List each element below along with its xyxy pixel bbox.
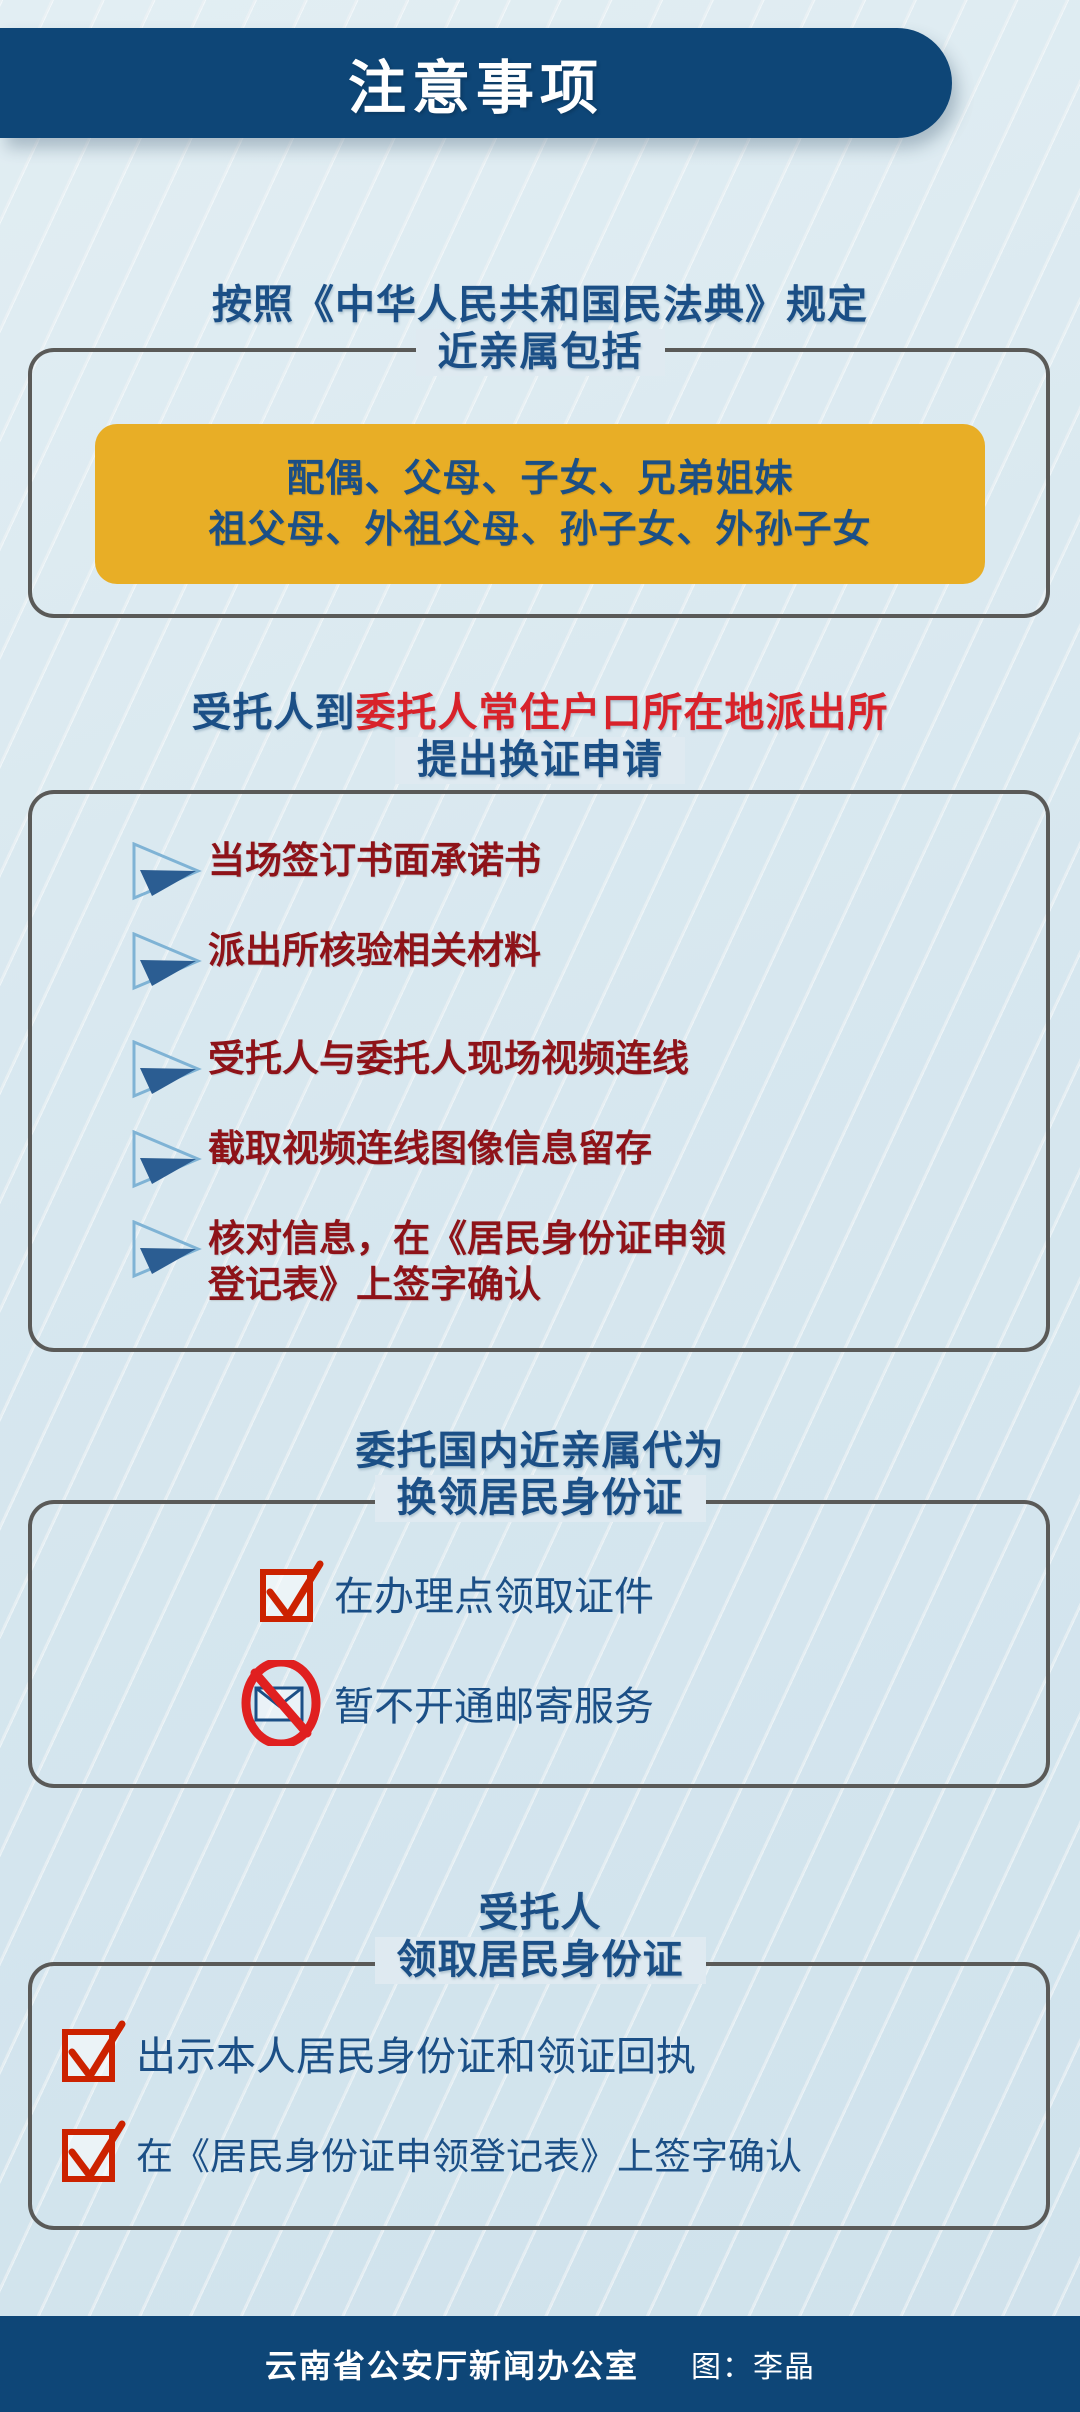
arrow-right-icon [130,1040,202,1102]
collect-head-line1: 受托人 [0,1890,1080,1937]
apply-head-line2: 提出换证申请 [395,737,685,784]
apply-head-line1: 受托人到委托人常住户口所在地派出所 [0,690,1080,737]
apply-list-item-3: 受托人与委托人现场视频连线 [130,1036,689,1102]
relatives-yellow-box: 配偶、父母、子女、兄弟姐妹 祖父母、外祖父母、孙子女、外孙子女 [95,424,985,584]
apply-list-item-1-label: 当场签订书面承诺书 [208,838,541,884]
checkbox-checked-icon [258,1560,324,1626]
section-frame-collect [28,1962,1050,2230]
renew-item-pickup-label: 在办理点领取证件 [334,1564,654,1622]
title-banner: 注意事项 [0,28,952,138]
collect-item-sign: 在《居民身份证申领登记表》上签字确认 [60,2120,802,2186]
section-header-relatives: 按照《中华人民共和国民法典》规定 近亲属包括 [0,282,1080,376]
relatives-head-line2: 近亲属包括 [416,329,665,376]
footer-organization: 云南省公安厅新闻办公室 [265,2341,639,2387]
arrow-right-icon [130,1130,202,1192]
arrow-right-icon [130,1220,202,1282]
collect-head-line2: 领取居民身份证 [375,1937,706,1984]
footer-bar: 云南省公安厅新闻办公室 图：李晶 [0,2316,1080,2412]
arrow-right-icon [130,932,202,994]
apply-list-item-4: 截取视频连线图像信息留存 [130,1126,652,1192]
collect-item-show-id: 出示本人居民身份证和领证回执 [60,2020,696,2086]
apply-head-line1-red: 委托人常住户口所在地派出所 [356,690,889,736]
no-mail-icon [238,1660,324,1746]
relatives-line-1: 配偶、父母、子女、兄弟姐妹 [286,453,793,504]
section-header-renew: 委托国内近亲属代为 换领居民身份证 [0,1428,1080,1522]
checkbox-checked-icon [60,2020,126,2086]
checkbox-checked-icon [60,2120,126,2186]
apply-list-item-3-label: 受托人与委托人现场视频连线 [208,1036,689,1082]
infographic-page: 注意事项 按照《中华人民共和国民法典》规定 近亲属包括 配偶、父母、子女、兄弟姐… [0,0,1080,2412]
collect-item-show-id-label: 出示本人居民身份证和领证回执 [136,2024,696,2082]
section-header-collect: 受托人 领取居民身份证 [0,1890,1080,1984]
relatives-head-line1: 按照《中华人民共和国民法典》规定 [0,282,1080,329]
section-header-apply: 受托人到委托人常住户口所在地派出所 提出换证申请 [0,690,1080,784]
apply-head-line1-blue: 受托人到 [192,690,356,736]
collect-item-sign-label: 在《居民身份证申领登记表》上签字确认 [136,2126,802,2180]
renew-head-line1: 委托国内近亲属代为 [0,1428,1080,1475]
renew-item-pickup: 在办理点领取证件 [258,1560,654,1626]
page-title: 注意事项 [348,41,604,125]
renew-head-line2: 换领居民身份证 [375,1475,706,1522]
relatives-line-2: 祖父母、外祖父母、孙子女、外孙子女 [208,504,871,555]
apply-list-item-1: 当场签订书面承诺书 [130,838,541,904]
apply-list-item-4-label: 截取视频连线图像信息留存 [208,1126,652,1172]
footer-credit: 图：李晶 [691,2342,815,2386]
apply-list-item-5-label: 核对信息，在《居民身份证申领 登记表》上签字确认 [208,1216,726,1309]
renew-item-no-mail: 暂不开通邮寄服务 [238,1660,654,1746]
arrow-right-icon [130,842,202,904]
apply-list-item-5: 核对信息，在《居民身份证申领 登记表》上签字确认 [130,1216,726,1309]
apply-list-item-2: 派出所核验相关材料 [130,928,541,994]
apply-list-item-2-label: 派出所核验相关材料 [208,928,541,974]
renew-item-no-mail-label: 暂不开通邮寄服务 [334,1674,654,1732]
